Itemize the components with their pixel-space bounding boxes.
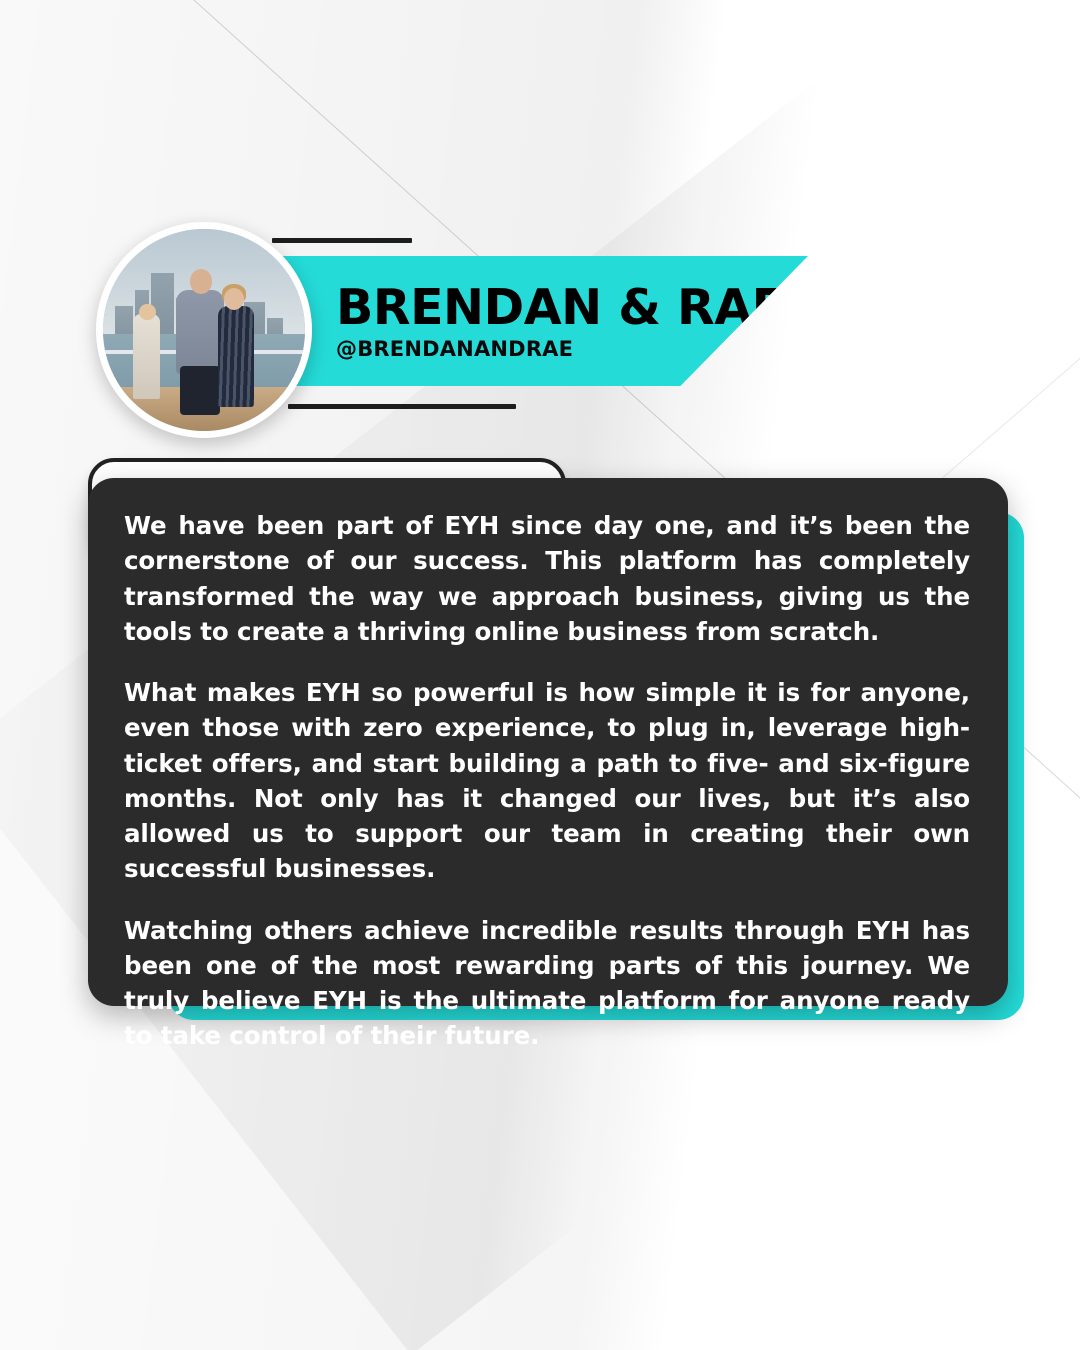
photo-woman-body	[218, 306, 254, 407]
photo-man-head	[190, 269, 212, 293]
profile-handle: @BRENDANANDRAE	[336, 339, 808, 360]
watermark-line-1: MIA	[1015, 759, 1080, 1350]
rule-below-banner	[288, 404, 516, 409]
photo-woman-head	[224, 288, 244, 310]
testimonial-graphic: MIA FROM BRENDAN & RAE @BRENDANANDRAE	[0, 0, 1080, 1350]
testimonial-paragraph: Watching others achieve incredible resul…	[124, 913, 970, 1054]
avatar	[96, 222, 312, 438]
name-banner: BRENDAN & RAE @BRENDANANDRAE	[228, 256, 808, 386]
background-watermark-text: MIA FROM	[1077, 348, 1080, 1350]
photo-bystander	[133, 314, 159, 399]
photo-bystander-head	[139, 304, 155, 320]
testimonial-paragraph: What makes EYH so powerful is how simple…	[124, 675, 970, 887]
testimonial-card: We have been part of EYH since day one, …	[88, 478, 1008, 1006]
testimonial-paragraph: We have been part of EYH since day one, …	[124, 508, 970, 649]
photo-man-body	[176, 290, 224, 375]
photo-man-legs	[180, 366, 220, 414]
avatar-photo	[103, 229, 305, 431]
profile-name: BRENDAN & RAE	[336, 283, 808, 332]
